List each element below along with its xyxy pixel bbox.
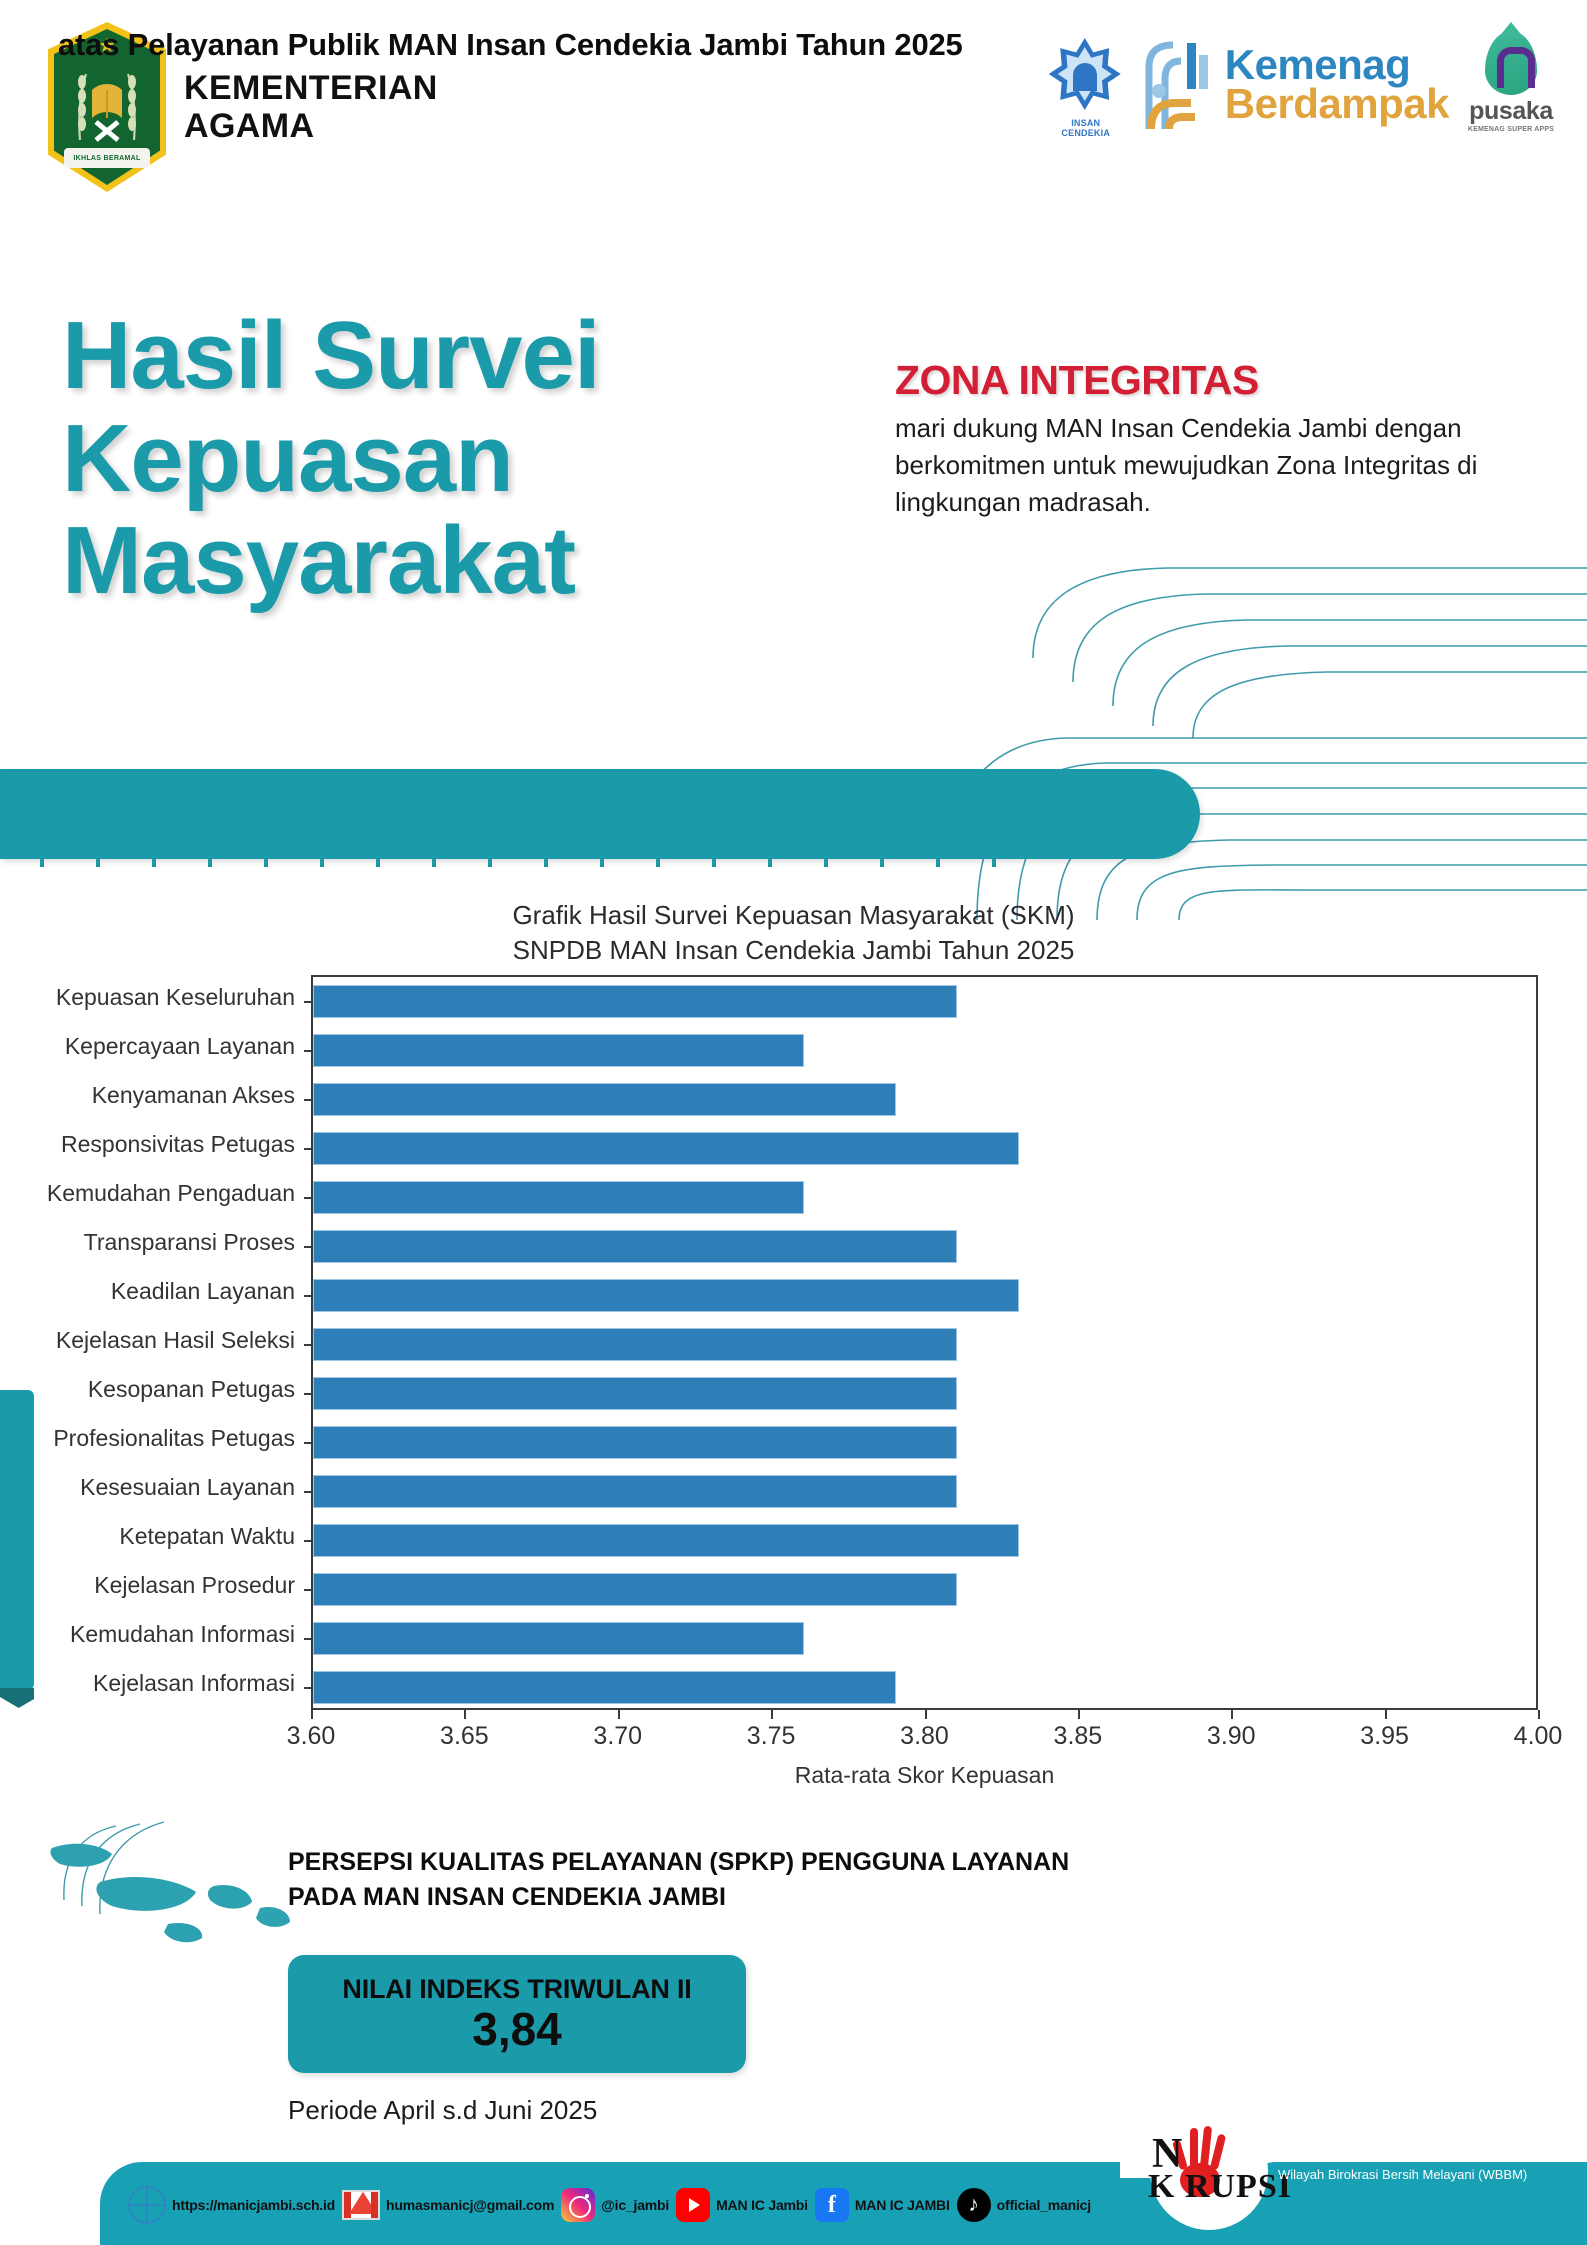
x-axis-tick [464,1710,466,1719]
ribbon-notch-tick [152,845,156,867]
social-link-label: MAN IC JAMBI [855,2197,950,2213]
bar [313,1132,1019,1164]
y-axis-label: Kepuasan Keseluruhan [0,984,295,1011]
ribbon-notch-decor [0,845,1050,867]
youtube-icon [676,2188,710,2222]
bar [313,1426,957,1458]
pusaka-drop-icon [1485,31,1537,95]
bar-row [313,1083,896,1115]
bar-row [313,1230,957,1262]
y-axis-label: Keadilan Layanan [0,1278,295,1305]
x-axis-tick [771,1710,773,1719]
ribbon-notch-tick [544,845,548,867]
bar-row [313,1622,804,1654]
x-axis-tick-label: 3.70 [593,1722,642,1751]
ribbon-notch-tick [936,845,940,867]
ribbon-notch-tick [96,845,100,867]
social-link[interactable]: @ic_jambi [561,2188,669,2222]
y-axis-label: Kejelasan Hasil Seleksi [0,1327,295,1354]
x-axis-tick [1231,1710,1233,1719]
x-axis-tick [618,1710,620,1719]
ribbon-notch-tick [824,845,828,867]
partner-logos: INSAN CENDEKIA [1047,30,1559,140]
social-links-row: https://manicjambi.sch.idhumasmanicj@gma… [128,2184,1091,2226]
bar [313,1181,804,1213]
ribbon-notch-tick [40,845,44,867]
badge-title: ZONA INTEGRITAS [1278,2114,1583,2144]
chart-title-line1: Grafik Hasil Survei Kepuasan Masyarakat … [0,898,1587,933]
period-text: Periode April s.d Juni 2025 [288,2095,597,2126]
pusaka-logo: pusaka KEMENAG SUPER APPS [1463,31,1559,139]
y-axis-label: Ketepatan Waktu [0,1523,295,1550]
bar-chart-plot-area [311,975,1538,1710]
page-title: Hasil Survei Kepuasan Masyarakat [62,305,902,613]
bar [313,1573,957,1605]
chart-title: Grafik Hasil Survei Kepuasan Masyarakat … [0,898,1587,969]
bar-row [313,1132,1019,1164]
y-axis-tick [304,1638,313,1640]
ribbon-notch-tick [376,845,380,867]
social-link-label: https://manicjambi.sch.id [172,2197,335,2213]
x-axis-tick [311,1710,313,1719]
badge-text: ZONA INTEGRITAS Menuju Wilayah Bebas Kor… [1278,2114,1583,2184]
kemenag-berdampak-wordmark: Kemenag Berdampak [1225,46,1449,123]
logo-word-korupsi: K RUPSI [1148,2168,1292,2206]
bar-row [313,1279,1019,1311]
y-axis-tick [304,1687,313,1689]
y-axis-tick [304,1246,313,1248]
y-axis-tick [304,1001,313,1003]
bar-row [313,1181,804,1213]
ribbon-notch-tick [656,845,660,867]
chart-title-line2: SNPDB MAN Insan Cendekia Jambi Tahun 202… [0,933,1587,968]
social-link[interactable]: fMAN IC JAMBI [815,2188,950,2222]
y-axis-tick [304,1197,313,1199]
berdampak-word: Berdampak [1225,85,1449,124]
pusaka-tagline: KEMENAG SUPER APPS [1463,126,1559,133]
y-axis-tick [304,1148,313,1150]
bar [313,1475,957,1507]
x-axis-title: Rata-rata Skor Kepuasan [311,1762,1538,1789]
social-link-label: humasmanicj@gmail.com [386,2197,554,2213]
zona-integritas-callout: ZONA INTEGRITAS mari dukung MAN Insan Ce… [895,357,1495,521]
insan-cendekia-label: INSAN CENDEKIA [1047,118,1125,138]
x-axis-tick [1078,1710,1080,1719]
bar [313,1524,1019,1556]
social-link[interactable]: https://manicjambi.sch.id [128,2186,335,2224]
crest-motto: IKHLAS BERAMAL [64,148,150,168]
x-axis-tick-label: 3.80 [900,1722,949,1751]
ribbon-notch-tick [880,845,884,867]
facebook-icon: f [815,2188,849,2222]
bar-row [313,1328,957,1360]
badge-sub-line2: Wilayah Birokrasi Bersih Melayani (WBBM) [1278,2167,1583,2184]
spkp-heading-line1: PERSEPSI KUALITAS PELAYANAN (SPKP) PENGG… [288,1845,1288,1880]
bar-row [313,1524,1019,1556]
bar [313,1671,896,1703]
y-axis-label: Kepercayaan Layanan [0,1033,295,1060]
poster-canvas: ★ IKHLAS BERAMAL [0,0,1587,2245]
bar [313,1377,957,1409]
x-axis-tick [1538,1710,1540,1719]
ribbon-notch-tick [768,845,772,867]
ribbon-notch-tick [432,845,436,867]
kemenag-berdampak-mark-icon [1139,33,1211,137]
pusaka-word: pusaka [1463,97,1559,126]
y-axis-tick [304,1295,313,1297]
bar-row [313,985,957,1017]
y-axis-tick [304,1344,313,1346]
x-axis-tick-label: 3.85 [1054,1722,1103,1751]
ribbon-notch-tick [320,845,324,867]
zona-integritas-body: mari dukung MAN Insan Cendekia Jambi den… [895,410,1495,521]
bar-row [313,1475,957,1507]
y-axis-label: Transparansi Proses [0,1229,295,1256]
x-axis-tick-label: 3.90 [1207,1722,1256,1751]
social-link[interactable]: humasmanicj@gmail.com [342,2190,554,2220]
ribbon-notch-tick [712,845,716,867]
bar-row [313,1573,957,1605]
y-axis-label: Kenyamanan Akses [0,1082,295,1109]
bar [313,1328,957,1360]
y-axis-tick [304,1050,313,1052]
bar [313,985,957,1017]
y-axis-label: Kemudahan Pengaduan [0,1180,295,1207]
zona-integritas-heading: ZONA INTEGRITAS [895,357,1495,404]
bar [313,1083,896,1115]
y-axis-label: Kejelasan Informasi [0,1670,295,1697]
bar [313,1279,1019,1311]
spkp-heading: PERSEPSI KUALITAS PELAYANAN (SPKP) PENGG… [288,1845,1288,1915]
instagram-icon [561,2188,595,2222]
zona-integritas-badge: N K RUPSI ZONA INTEGRITAS Menuju Wilayah… [1120,2100,1587,2245]
y-axis-label: Responsivitas Petugas [0,1131,295,1158]
social-link-label: MAN IC Jambi [716,2197,808,2213]
y-axis-label: Kemudahan Informasi [0,1621,295,1648]
y-axis-tick [304,1442,313,1444]
index-value: 3,84 [472,2005,562,2053]
bar-row [313,1426,957,1458]
badge-sub-line1: Menuju Wilayah Bebas Korupsi (WBK) dan [1278,2147,1583,2164]
y-axis-tick [304,1540,313,1542]
y-axis-label: Kesopanan Petugas [0,1376,295,1403]
y-axis-tick [304,1099,313,1101]
y-axis-tick [304,1393,313,1395]
ribbon-notch-tick [600,845,604,867]
bar [313,1034,804,1066]
y-axis-label: Kejelasan Prosedur [0,1572,295,1599]
social-link[interactable]: MAN IC Jambi [676,2188,808,2222]
x-axis-tick-label: 4.00 [1514,1722,1563,1751]
x-axis-tick-label: 3.65 [440,1722,489,1751]
ministry-name-line2: AGAMA [184,107,438,145]
y-axis-tick [304,1589,313,1591]
ribbon-notch-tick [264,845,268,867]
index-value-card: NILAI INDEKS TRIWULAN II 3,84 [288,1955,746,2073]
social-link-label: @ic_jambi [601,2197,669,2213]
social-link[interactable]: ♪official_manicj [957,2188,1091,2222]
y-axis-tick [304,1491,313,1493]
y-axis-label: Kesesuaian Layanan [0,1474,295,1501]
insan-cendekia-logo-icon: INSAN CENDEKIA [1047,30,1125,140]
x-axis-tick [925,1710,927,1719]
bar [313,1230,957,1262]
y-axis-label: Profesionalitas Petugas [0,1425,295,1452]
x-axis-tick-label: 3.60 [287,1722,336,1751]
index-label: NILAI INDEKS TRIWULAN II [342,1974,691,2005]
ribbon-notch-tick [208,845,212,867]
social-link-label: official_manicj [997,2197,1091,2213]
x-axis: 3.603.653.703.753.803.853.903.954.00 [311,1710,1538,1711]
ribbon-subtitle: atas Pelayanan Publik MAN Insan Cendekia… [58,0,963,90]
bar-row [313,1377,957,1409]
x-axis-tick [1385,1710,1387,1719]
bar [313,1622,804,1654]
globe-icon [128,2186,166,2224]
x-axis-tick-label: 3.95 [1360,1722,1409,1751]
bar-row [313,1671,896,1703]
tiktok-icon: ♪ [957,2188,991,2222]
bar-row [313,1034,804,1066]
gmail-icon [342,2190,380,2220]
x-axis-tick-label: 3.75 [747,1722,796,1751]
ribbon-notch-tick [488,845,492,867]
ribbon-notch-tick [992,845,996,867]
spkp-heading-line2: PADA MAN INSAN CENDEKIA JAMBI [288,1880,1288,1915]
